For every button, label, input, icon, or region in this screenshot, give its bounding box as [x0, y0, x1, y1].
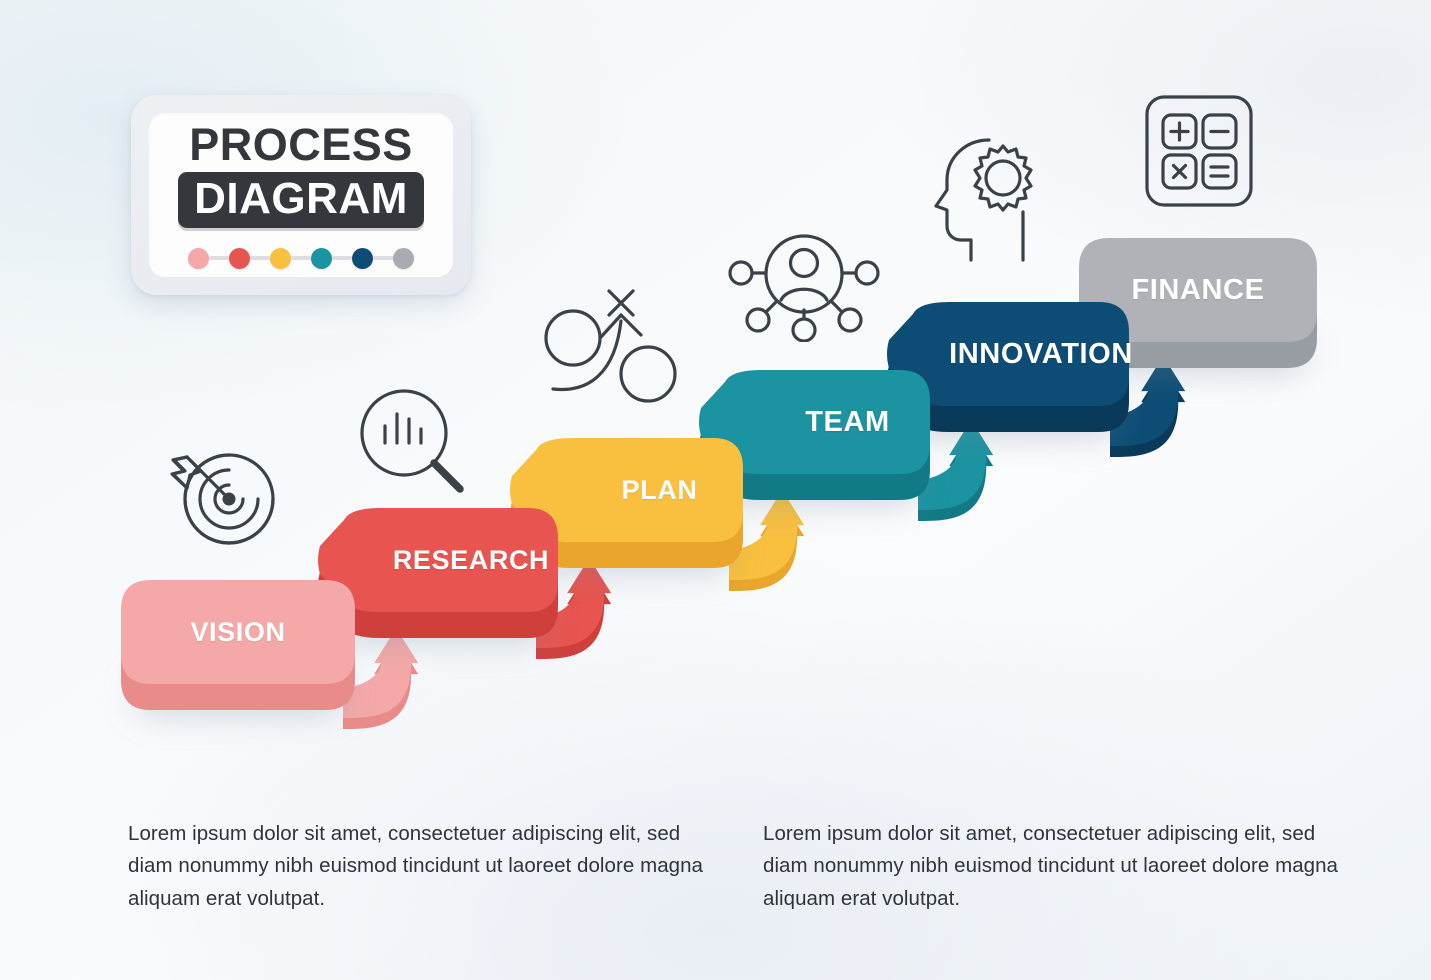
step-face: VISION [121, 580, 355, 684]
dot-finance [393, 248, 414, 269]
title-diagram-text: DIAGRAM [194, 177, 408, 221]
dot-research [229, 248, 250, 269]
title-card: PROCESS DIAGRAM [131, 95, 471, 295]
head-gear-icon [933, 128, 1057, 268]
dot-connector-dash [250, 256, 270, 260]
dot-connector-dash [373, 256, 393, 260]
target-arrow-icon [163, 437, 289, 553]
infographic-canvas: PROCESS DIAGRAM [0, 0, 1431, 980]
title-diagram-badge: DIAGRAM [178, 172, 424, 228]
step-label-team: TEAM [805, 406, 890, 439]
dot-innovation [352, 248, 373, 269]
dot-vision [188, 248, 209, 269]
step-label-innovation: INNOVATION [949, 338, 1133, 371]
caption-right: Lorem ipsum dolor sit amet, consectetuer… [763, 818, 1338, 915]
step-label-research: RESEARCH [393, 545, 549, 576]
team-network-icon [726, 226, 882, 342]
magnifier-chart-icon [356, 386, 480, 500]
dot-plan [270, 248, 291, 269]
dot-team [311, 248, 332, 269]
step-face: RESEARCH [316, 508, 592, 612]
title-card-inner: PROCESS DIAGRAM [149, 113, 453, 277]
process-step-vision[interactable]: VISION [121, 580, 355, 710]
dot-connector-dash [291, 256, 311, 260]
strategy-playbook-icon [543, 281, 683, 403]
title-process-text: PROCESS [189, 122, 413, 167]
dot-connector-dash [332, 256, 352, 260]
step-label-vision: VISION [190, 617, 285, 648]
dot-connector-dash [209, 256, 229, 260]
step-label-plan: PLAN [622, 475, 698, 506]
calculator-icon [1143, 93, 1255, 209]
caption-left: Lorem ipsum dolor sit amet, consectetuer… [128, 818, 703, 915]
color-legend-dots [188, 248, 414, 269]
